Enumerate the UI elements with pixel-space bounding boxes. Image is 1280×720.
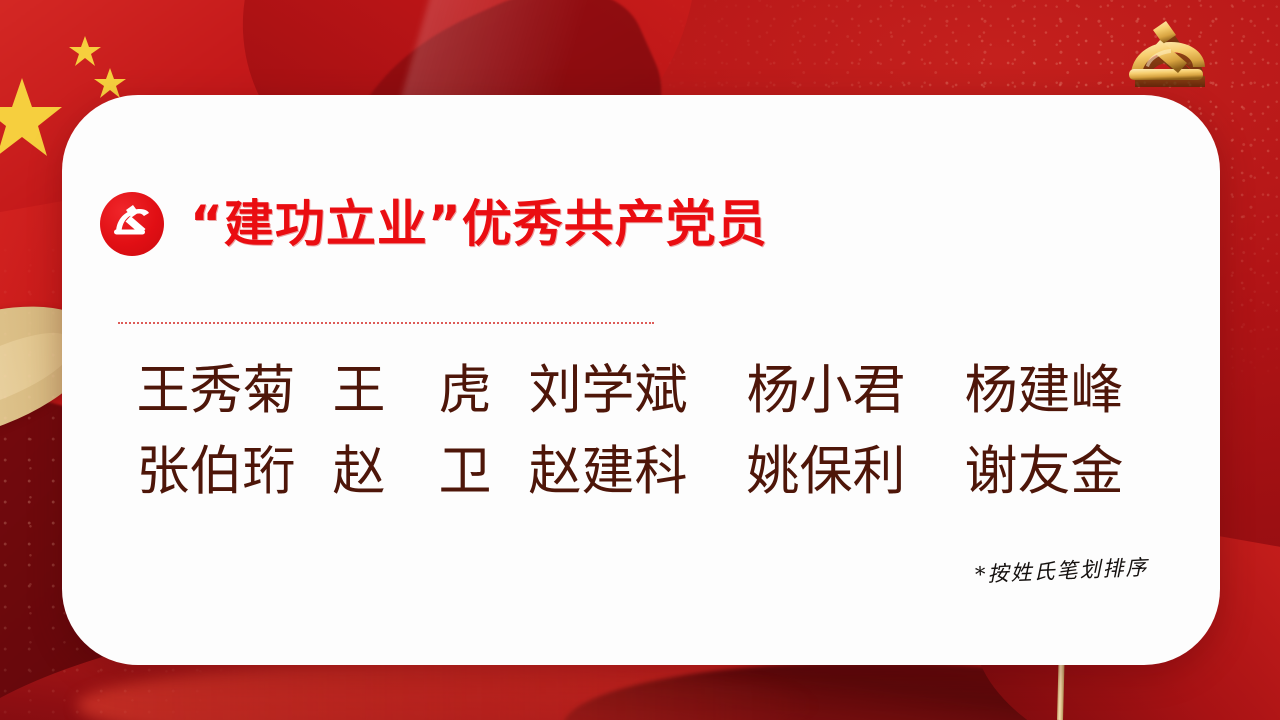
content-card: “建功立业”优秀共产党员 王秀菊 王 虎 刘学斌 杨小君 杨建峰 张伯珩 赵 卫… xyxy=(62,95,1220,665)
slide-canvas: “建功立业”优秀共产党员 王秀菊 王 虎 刘学斌 杨小君 杨建峰 张伯珩 赵 卫… xyxy=(0,0,1280,720)
honoree-name: 谢友金 xyxy=(946,434,1142,509)
sort-note: *按姓氏笔划排序 xyxy=(974,551,1149,589)
honoree-row: 王秀菊 王 虎 刘学斌 杨小君 杨建峰 xyxy=(118,353,1166,428)
honoree-row: 张伯珩 赵 卫 赵建科 姚保利 谢友金 xyxy=(118,434,1166,509)
dotted-divider xyxy=(118,322,654,324)
title-row: “建功立业”优秀共产党员 xyxy=(100,192,768,256)
honoree-list: 王秀菊 王 虎 刘学斌 杨小君 杨建峰 张伯珩 赵 卫 赵建科 姚保利 谢友金 xyxy=(118,353,1166,516)
honoree-name: 刘学斌 xyxy=(510,353,706,428)
honoree-name: 赵建科 xyxy=(510,434,706,509)
honoree-name: 杨建峰 xyxy=(946,353,1142,428)
page-title: “建功立业”优秀共产党员 xyxy=(190,199,768,249)
honoree-name: 杨小君 xyxy=(728,353,924,428)
honoree-name: 张伯珩 xyxy=(118,434,314,509)
honoree-name: 王秀菊 xyxy=(118,353,314,428)
honoree-name: 姚保利 xyxy=(728,434,924,509)
party-emblem-gold-icon xyxy=(1116,14,1224,106)
honoree-name: 王 虎 xyxy=(314,353,510,428)
honoree-name: 赵 卫 xyxy=(314,434,510,509)
hammer-and-sickle-icon xyxy=(100,192,164,256)
